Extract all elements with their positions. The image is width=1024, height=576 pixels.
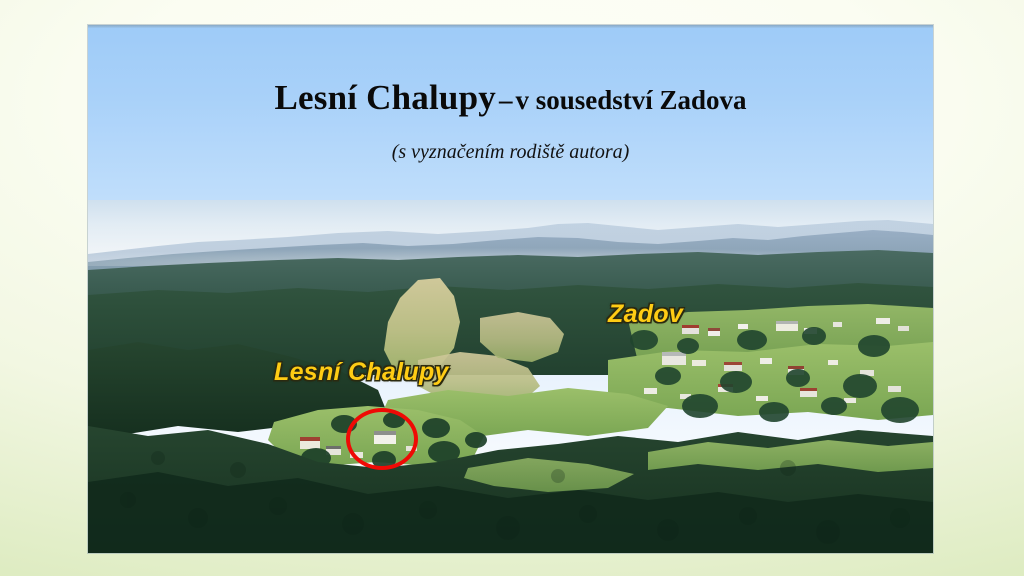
title-rest-text: v sousedství Zadova: [515, 85, 746, 115]
content-panel: Lesní Chalupy–v sousedství Zadova (s vyz…: [88, 25, 933, 553]
title-main-text: Lesní Chalupy: [275, 78, 496, 117]
title-dash: –: [496, 85, 516, 115]
photo-svg: [88, 200, 933, 553]
page-title: Lesní Chalupy–v sousedství Zadova: [88, 80, 933, 115]
panel-top-edge: [88, 25, 933, 28]
page-subtitle: (s vyznačením rodiště autora): [88, 141, 933, 164]
slide-canvas: Lesní Chalupy–v sousedství Zadova (s vyz…: [0, 0, 1024, 576]
landscape-photo: Lesní Chalupy Zadov: [88, 200, 933, 553]
birthplace-marker: [346, 408, 418, 470]
